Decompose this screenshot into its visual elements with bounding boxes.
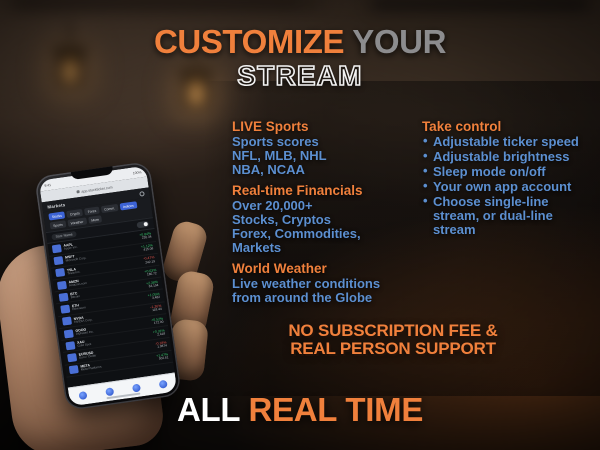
ticker-price: 172.90: [151, 320, 163, 325]
ticker-price: 415.08: [141, 248, 153, 253]
lock-icon: [76, 190, 79, 193]
ticker-list[interactable]: AAPLApple Inc.+0.84%226.34MSFTMicrosoft …: [48, 229, 175, 387]
promo-line-1: NO SUBSCRIPTION FEE &: [196, 322, 590, 340]
ticker-values: +0.52%172.90: [151, 316, 164, 326]
ticker-symbol-icon: [67, 353, 77, 362]
feature-group: LIVE SportsSports scoresNFL, MLB, NHLNBA…: [232, 120, 412, 177]
ticker-symbol-icon: [69, 365, 79, 374]
sort-button[interactable]: Sort: Name: [51, 231, 77, 241]
ticker-symbol-icon: [57, 280, 67, 289]
live-toggle[interactable]: [136, 221, 149, 229]
ticker-values: +2.38%63,104: [146, 280, 159, 290]
ticker-price: 186.72: [145, 272, 157, 277]
status-battery: 100%: [133, 170, 142, 175]
promo-line-2: REAL PERSON SUPPORT: [196, 340, 590, 358]
status-time: 9:41: [44, 182, 51, 187]
take-control-heading: Take control: [422, 120, 592, 134]
promo-text: NO SUBSCRIPTION FEE & REAL PERSON SUPPOR…: [196, 322, 590, 359]
feature-columns: LIVE SportsSports scoresNFL, MLB, NHLNBA…: [232, 120, 592, 305]
ticker-symbol-icon: [59, 293, 69, 302]
ticker-values: +0.31%2,418: [153, 328, 166, 338]
take-control-bullet: Choose single-line stream, or dual-line …: [422, 195, 592, 237]
ticker-values: -1.26%118.44: [150, 304, 162, 313]
ticker-values: +1.12%415.08: [141, 244, 154, 254]
feature-line: from around the Globe: [232, 291, 412, 305]
ticker-symbol-icon: [52, 244, 62, 253]
tagline: ALL REAL TIME: [0, 391, 600, 429]
category-chip[interactable]: More: [88, 215, 103, 224]
feature-heading: LIVE Sports: [232, 120, 412, 134]
tagline-real-time: REAL TIME: [249, 391, 424, 428]
feature-line: Markets: [232, 241, 412, 255]
take-control-bullet: Your own app account: [422, 180, 592, 194]
ticker-symbol-icon: [64, 329, 74, 338]
category-chip[interactable]: Stocks: [48, 211, 65, 220]
ticker-symbol-icon: [60, 305, 70, 314]
tagline-all: ALL: [177, 391, 240, 428]
feature-heading: World Weather: [232, 262, 412, 276]
ticker-price: 502.61: [157, 357, 169, 362]
ticker-values: +0.84%226.34: [139, 231, 152, 241]
ticker-symbol-icon: [62, 317, 72, 326]
ticker-values: +1.47%502.61: [156, 352, 169, 362]
ticker-symbol-icon: [65, 341, 75, 350]
ticker-values: +1.05%3,482: [147, 292, 160, 302]
feature-column-right: Take control Adjustable ticker speedAdju…: [422, 120, 592, 305]
take-control-bullet-list: Adjustable ticker speedAdjustable bright…: [422, 135, 592, 236]
feature-column-left: LIVE SportsSports scoresNFL, MLB, NHLNBA…: [232, 120, 412, 305]
feature-group: Real-time FinancialsOver 20,000+Stocks, …: [232, 184, 412, 255]
headline-customize: CUSTOMIZE: [154, 23, 344, 60]
ticker-symbol-icon: [55, 268, 65, 277]
take-control-bullet: Adjustable ticker speed: [422, 135, 592, 149]
ticker-symbol-icon: [54, 256, 64, 265]
settings-tab-icon[interactable]: [158, 380, 167, 389]
feature-line: NBA, NCAA: [232, 163, 412, 177]
category-chip[interactable]: Sports: [50, 220, 67, 229]
take-control-bullet: Sleep mode on/off: [422, 165, 592, 179]
ticker-values: +0.63%186.72: [144, 268, 157, 278]
ticker-price: 118.44: [151, 308, 163, 313]
ticker-price: 226.34: [140, 236, 152, 241]
gear-icon[interactable]: [139, 191, 145, 197]
headline-line-1: CUSTOMIZE YOUR: [0, 26, 600, 58]
take-control-bullet: Adjustable brightness: [422, 150, 592, 164]
category-chip[interactable]: Indices: [119, 201, 137, 210]
ticker-values: -0.47%242.19: [143, 256, 155, 265]
feature-heading: Real-time Financials: [232, 184, 412, 198]
category-chip[interactable]: Forex: [84, 207, 100, 216]
headline-stream: STREAM: [0, 62, 600, 89]
feature-group: World WeatherLive weather conditionsfrom…: [232, 262, 412, 305]
ticker-price: 242.19: [144, 260, 156, 265]
headline-your: YOUR: [352, 23, 446, 60]
headline: CUSTOMIZE YOUR STREAM: [0, 26, 600, 90]
category-chip[interactable]: Weather: [67, 217, 87, 227]
ticker-price: 1.0874: [156, 345, 168, 350]
category-chip[interactable]: Comm.: [101, 204, 119, 213]
ticker-price: 63,104: [146, 284, 158, 289]
ticker-values: -0.18%1.0874: [155, 340, 167, 349]
category-chip[interactable]: Crypto: [66, 209, 83, 218]
promo-poster: 9:41 100% app.stockticker.com Markets St…: [0, 0, 600, 450]
feature-line: Forex, Commodities,: [232, 227, 412, 241]
